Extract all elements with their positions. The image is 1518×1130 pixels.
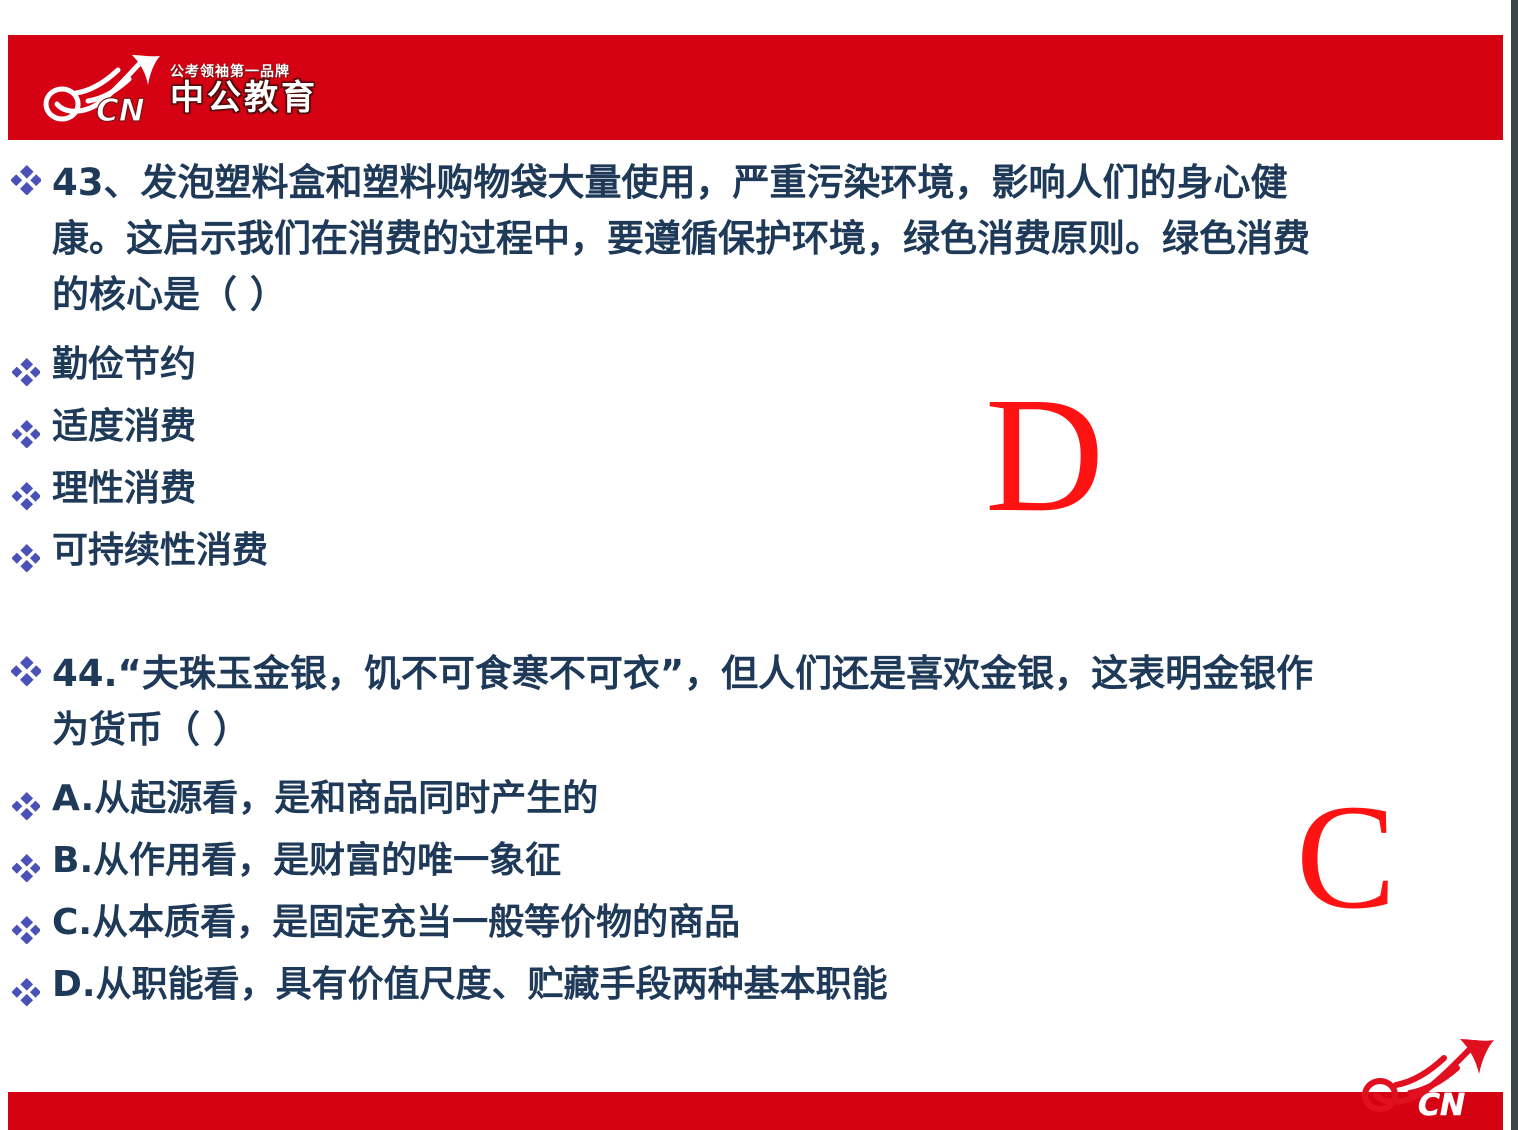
diamond-bullet-icon	[0, 904, 52, 944]
option-d-label: D.	[52, 964, 96, 1005]
footer-brand-logo-icon: CN	[1352, 1035, 1502, 1123]
option-row-a[interactable]: A.从起源看，是和商品同时产生的	[0, 780, 1518, 820]
option-a-text: 从起源看，是和商品同时产生的	[94, 778, 598, 819]
option-label-text: 勤俭节约	[52, 346, 196, 384]
diamond-bullet-icon	[0, 780, 52, 820]
option-b-text: 从作用看，是财富的唯一象征	[93, 840, 561, 881]
zhonggong-wing-cn-icon: CN	[32, 49, 164, 129]
brand-logo: CN 公考领袖第一品牌 中公教育	[32, 45, 318, 133]
question-block-44: 44.“夫珠玉金银，饥不可食寒不可衣”，但人们还是喜欢金银，这表明金银作为货币（…	[0, 646, 1518, 1006]
diamond-bullet-icon	[0, 842, 52, 882]
option-c-label: C.	[52, 902, 92, 943]
option-b-label: B.	[52, 840, 93, 881]
option-d: D.从职能看，具有价值尺度、贮藏手段两种基本职能	[52, 966, 888, 1004]
option-d-text: 从职能看，具有价值尺度、贮藏手段两种基本职能	[96, 964, 888, 1005]
diamond-bullet-icon	[0, 470, 52, 510]
section-spacer	[0, 572, 1518, 646]
question-text: 43、发泡塑料盒和塑料购物袋大量使用，严重污染环境，影响人们的身心健康。这启示我…	[52, 155, 1342, 324]
option-c-text: 从本质看，是固定充当一般等价物的商品	[92, 902, 740, 943]
svg-text:CN: CN	[96, 93, 145, 129]
diamond-bullet-icon	[0, 966, 52, 1006]
option-row-d[interactable]: D.从职能看，具有价值尺度、贮藏手段两种基本职能	[0, 966, 1518, 1006]
option-row[interactable]: 适度消费	[0, 408, 1518, 448]
slide-content: 43、发泡塑料盒和塑料购物袋大量使用，严重污染环境，影响人们的身心健康。这启示我…	[0, 155, 1518, 1070]
option-a: A.从起源看，是和商品同时产生的	[52, 780, 598, 818]
option-a-label: A.	[52, 778, 94, 819]
option-label-text: 理性消费	[52, 470, 196, 508]
option-row[interactable]: 勤俭节约	[0, 346, 1518, 386]
diamond-bullet-icon	[0, 646, 52, 686]
footer-band	[8, 1092, 1503, 1130]
slide: CN 公考领袖第一品牌 中公教育	[0, 0, 1518, 1130]
svg-text:CN: CN	[1418, 1088, 1465, 1123]
diamond-bullet-icon	[0, 408, 52, 448]
option-c: C.从本质看，是固定充当一般等价物的商品	[52, 904, 740, 942]
option-label-text: 适度消费	[52, 408, 196, 446]
option-row-c[interactable]: C.从本质看，是固定充当一般等价物的商品	[0, 904, 1518, 944]
option-row[interactable]: 可持续性消费	[0, 532, 1518, 572]
question-stem-43: 43、发泡塑料盒和塑料购物袋大量使用，严重污染环境，影响人们的身心健康。这启示我…	[0, 155, 1518, 324]
option-row[interactable]: 理性消费	[0, 470, 1518, 510]
answer-mark-question-43: D	[985, 372, 1104, 537]
diamond-bullet-icon	[0, 346, 52, 386]
brand-wordmark: 公考领袖第一品牌 中公教育	[170, 61, 318, 117]
brand-name: 中公教育	[170, 81, 318, 117]
answer-mark-question-44: C	[1296, 782, 1396, 932]
option-row-b[interactable]: B.从作用看，是财富的唯一象征	[0, 842, 1518, 882]
diamond-bullet-icon	[0, 155, 52, 195]
diamond-bullet-icon	[0, 532, 52, 572]
option-b: B.从作用看，是财富的唯一象征	[52, 842, 561, 880]
question-block-43: 43、发泡塑料盒和塑料购物袋大量使用，严重污染环境，影响人们的身心健康。这启示我…	[0, 155, 1518, 572]
question-stem-44: 44.“夫珠玉金银，饥不可食寒不可衣”，但人们还是喜欢金银，这表明金银作为货币（…	[0, 646, 1518, 758]
option-label-text: 可持续性消费	[52, 532, 268, 570]
question-text: 44.“夫珠玉金银，饥不可食寒不可衣”，但人们还是喜欢金银，这表明金银作为货币（…	[52, 646, 1342, 758]
